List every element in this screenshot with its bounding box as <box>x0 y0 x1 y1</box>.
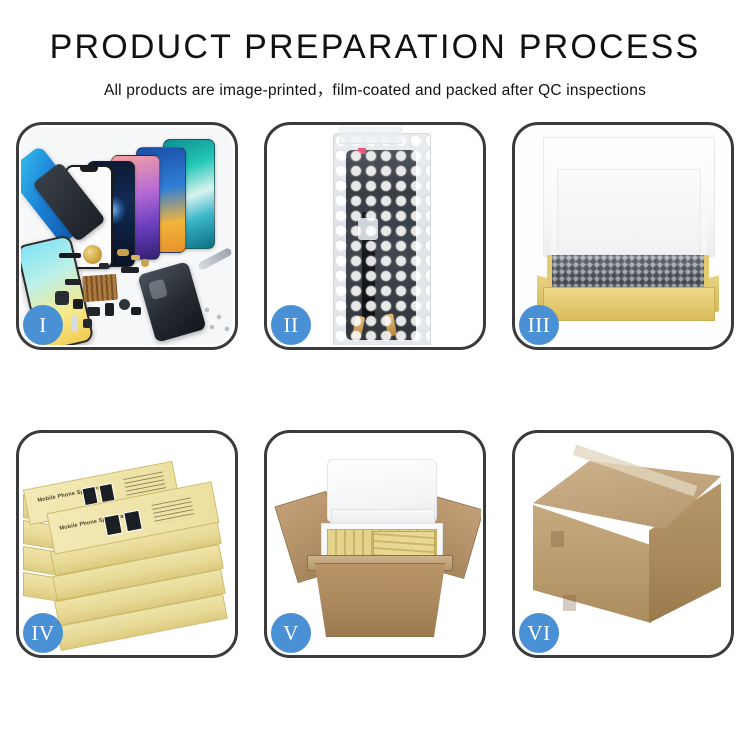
process-step-panel-4: Mobile Phone Spare Parts Mobile Phone Sp… <box>16 430 238 658</box>
process-step-panel-2: II <box>264 122 486 350</box>
bubble-texture-overlay <box>552 255 704 289</box>
box-lid-inner-panel <box>557 169 701 255</box>
spare-part <box>141 259 149 267</box>
step-badge-6: VI <box>519 613 559 653</box>
lcd-screen-assembly <box>346 150 416 340</box>
cable-connector <box>358 218 378 240</box>
kraft-tray-front <box>543 287 715 321</box>
process-step-panel-3: III <box>512 122 734 350</box>
spare-part <box>121 267 139 273</box>
process-step-panel-5: V <box>264 430 486 658</box>
spare-part <box>117 249 129 256</box>
spare-part <box>73 299 83 309</box>
spare-part <box>131 307 141 315</box>
process-step-panel-1: I <box>16 122 238 350</box>
step-badge-5: V <box>271 613 311 653</box>
spare-part <box>119 299 130 310</box>
spare-part <box>65 279 81 285</box>
packed-products-row <box>547 255 709 289</box>
bag-top-flap <box>339 127 403 144</box>
step-badge-2: II <box>271 305 311 345</box>
connector-chip-grid <box>82 274 118 302</box>
page-title: PRODUCT PREPARATION PROCESS <box>0 30 750 64</box>
carton-body <box>309 563 451 637</box>
step-badge-1: I <box>23 305 63 345</box>
process-step-grid: I II <box>10 122 740 670</box>
carton-seam-upper <box>551 531 564 547</box>
spare-part <box>105 303 114 316</box>
spare-part <box>87 307 100 316</box>
qc-sticker <box>358 148 366 154</box>
page-header: PRODUCT PREPARATION PROCESS All products… <box>0 0 750 100</box>
page-subtitle: All products are image-printed，film-coat… <box>0 78 750 100</box>
step-badge-4: IV <box>23 613 63 653</box>
speaker-coil-part <box>83 245 102 264</box>
step-badge-3: III <box>519 305 559 345</box>
spare-part <box>83 319 92 328</box>
spare-part <box>99 263 109 269</box>
spare-part <box>71 315 78 331</box>
process-step-panel-6: VI <box>512 430 734 658</box>
carton-seam-lower <box>563 595 576 611</box>
bubble-wrap-bag <box>333 133 431 345</box>
spare-part <box>59 253 81 258</box>
screws-group <box>203 305 233 335</box>
spare-part <box>131 255 140 260</box>
spare-part <box>55 291 69 305</box>
